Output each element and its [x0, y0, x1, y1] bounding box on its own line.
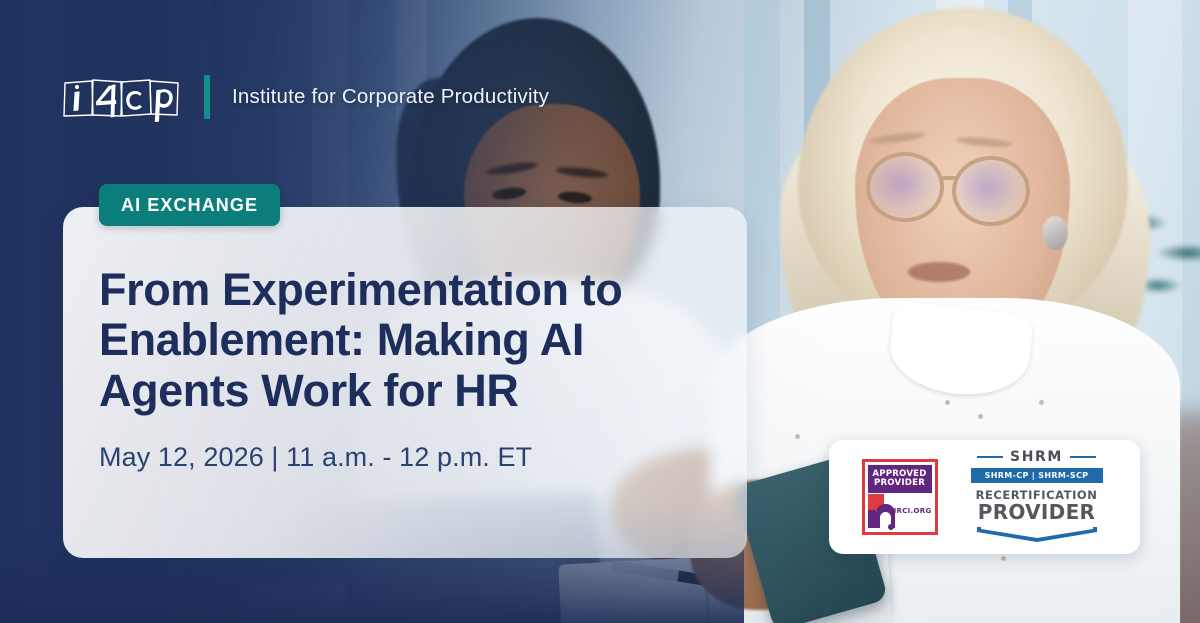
ai-exchange-badge[interactable]: AI EXCHANGE: [99, 184, 280, 226]
title-line-2: Enablement: Making AI: [99, 314, 584, 365]
shrm-banner-chevron-icon: [975, 525, 1099, 545]
i4cp-logo[interactable]: [62, 72, 182, 122]
certification-badges: APPROVED PROVIDER HRCI.ORG SHRM SHRM-CP …: [829, 440, 1140, 554]
organization-name: Institute for Corporate Productivity: [232, 85, 549, 109]
shrm-rule-left: [977, 456, 1003, 458]
hrci-approved-provider-badge: APPROVED PROVIDER HRCI.ORG: [862, 459, 938, 535]
shrm-recertification-provider-badge: SHRM SHRM-CP | SHRM-SCP RECERTIFICATION …: [966, 449, 1108, 545]
hrci-url: HRCI.ORG: [890, 507, 931, 515]
shrm-rule-right: [1070, 456, 1096, 458]
title-line-3: Agents Work for HR: [99, 365, 519, 416]
content-card: From Experimentation to Enablement: Maki…: [63, 207, 747, 558]
shrm-credentials: SHRM-CP | SHRM-SCP: [971, 468, 1103, 483]
hrci-badge-heading: APPROVED PROVIDER: [868, 465, 932, 493]
page-title: From Experimentation to Enablement: Maki…: [99, 265, 713, 416]
event-datetime: May 12, 2026 | 11 a.m. - 12 p.m. ET: [99, 442, 713, 473]
webinar-promo-banner: Institute for Corporate Productivity AI …: [0, 0, 1200, 623]
shrm-brand: SHRM: [1010, 449, 1063, 465]
shrm-line-2: PROVIDER: [978, 502, 1096, 523]
hrci-h-logo-icon: [868, 494, 889, 528]
brand-header: Institute for Corporate Productivity: [62, 72, 549, 122]
vertical-divider: [204, 75, 210, 119]
title-line-1: From Experimentation to: [99, 264, 622, 315]
hrci-line-2: PROVIDER: [874, 478, 925, 488]
